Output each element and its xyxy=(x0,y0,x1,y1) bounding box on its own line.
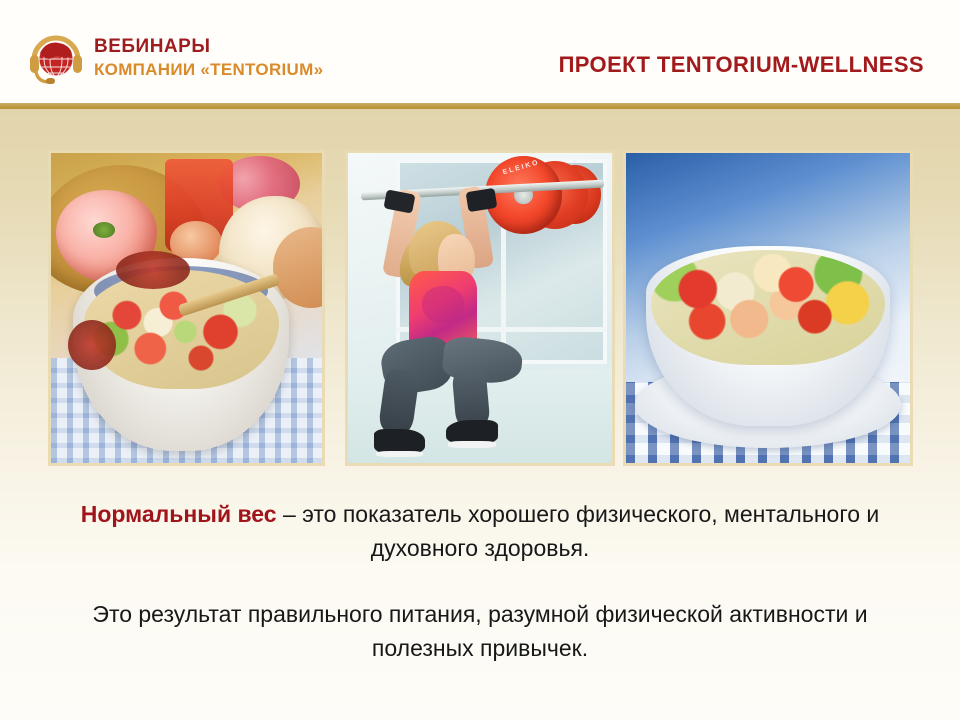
logo-line-company: КОМПАНИИ «TENTORIUM» xyxy=(94,61,323,78)
caption-paragraph-1: Нормальный вес – это показатель хорошего… xyxy=(60,497,900,565)
logo-line-webinars: ВЕБИНАРЫ xyxy=(94,37,323,56)
globe-headset-icon xyxy=(27,27,85,87)
photo-shrimp-salad xyxy=(623,150,913,466)
caption-paragraph-2: Это результат правильного питания, разум… xyxy=(60,597,900,665)
project-title: ПРОЕКТ TENTORIUM-WELLNESS xyxy=(559,52,924,78)
photo-row: ELEIKO xyxy=(0,150,960,468)
logo-wordmark: ВЕБИНАРЫ КОМПАНИИ «TENTORIUM» xyxy=(94,37,323,78)
photo-woman-weightlifting: ELEIKO xyxy=(345,150,615,466)
brand-logo: ВЕБИНАРЫ КОМПАНИИ «TENTORIUM» xyxy=(27,27,323,87)
presentation-slide: ВЕБИНАРЫ КОМПАНИИ «TENTORIUM» ПРОЕКТ TEN… xyxy=(0,0,960,720)
caption-paragraph-1-rest: – это показатель хорошего физического, м… xyxy=(277,501,880,561)
photo-salad-bowl-vegetables xyxy=(48,150,325,466)
caption-highlight-normal-weight: Нормальный вес xyxy=(81,501,277,527)
